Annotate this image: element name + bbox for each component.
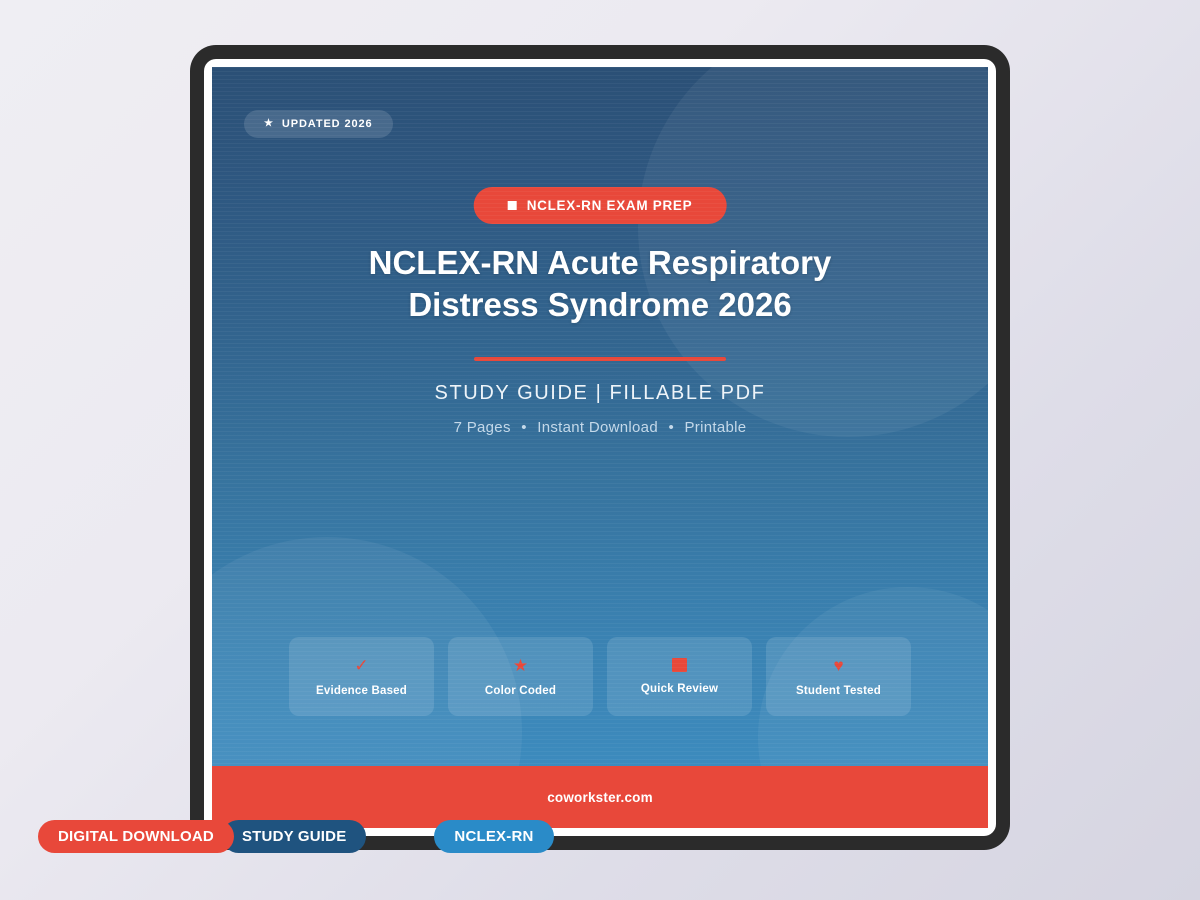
device-frame: ★ UPDATED 2026 NCLEX-RN EXAM PREP NCLEX-… (190, 45, 1010, 850)
feature-label: Evidence Based (316, 685, 407, 697)
updated-badge-label: UPDATED 2026 (282, 118, 373, 130)
ribbon-study-guide: STUDY GUIDE (222, 820, 366, 853)
poster-content: ★ UPDATED 2026 NCLEX-RN EXAM PREP NCLEX-… (212, 67, 988, 828)
feature-card-student-tested: ♥ Student Tested (766, 637, 911, 716)
ribbon-digital-download: DIGITAL DOWNLOAD (38, 820, 234, 853)
feature-card-color-coded: ★ Color Coded (448, 637, 593, 716)
device-screen: ★ UPDATED 2026 NCLEX-RN EXAM PREP NCLEX-… (204, 59, 996, 836)
star-icon: ★ (264, 119, 274, 129)
checkmark-icon: ✓ (354, 657, 368, 674)
title-divider (474, 357, 726, 361)
meta-printable: Printable (684, 419, 746, 436)
ribbon-badge-group: DIGITAL DOWNLOAD STUDY GUIDE NCLEX-RN (38, 820, 554, 853)
heart-icon: ♥ (833, 657, 843, 674)
feature-card-evidence-based: ✓ Evidence Based (289, 637, 434, 716)
feature-card-quick-review: Quick Review (607, 637, 752, 716)
square-icon (508, 201, 517, 210)
star-icon: ★ (513, 657, 528, 674)
poster-canvas: ★ UPDATED 2026 NCLEX-RN EXAM PREP NCLEX-… (212, 67, 988, 828)
feature-label: Quick Review (641, 683, 718, 695)
ribbon-nclex-rn: NCLEX-RN (434, 820, 553, 853)
updated-badge: ★ UPDATED 2026 (244, 110, 393, 138)
category-badge: NCLEX-RN EXAM PREP (474, 187, 727, 224)
format-line: STUDY GUIDE | FILLABLE PDF (212, 382, 988, 405)
meta-pages: 7 Pages (454, 419, 511, 436)
meta-separator-2: • (662, 419, 680, 436)
feature-card-row: ✓ Evidence Based ★ Color Coded Quick Rev… (289, 637, 911, 716)
meta-separator-1: • (515, 419, 533, 436)
page-title: NCLEX-RN Acute Respiratory Distress Synd… (212, 242, 988, 326)
feature-label: Color Coded (485, 685, 556, 697)
square-icon (672, 658, 687, 672)
meta-delivery: Instant Download (537, 419, 658, 436)
meta-line: 7 Pages • Instant Download • Printable (212, 419, 988, 436)
feature-label: Student Tested (796, 685, 881, 697)
category-badge-label: NCLEX-RN EXAM PREP (527, 198, 693, 213)
title-line-2: Distress Syndrome 2026 (408, 286, 791, 323)
poster-footer-bar: coworkster.com (212, 766, 988, 828)
product-cover-mockup: ★ UPDATED 2026 NCLEX-RN EXAM PREP NCLEX-… (0, 0, 1200, 900)
footer-site-label: coworkster.com (547, 790, 653, 805)
title-line-1: NCLEX-RN Acute Respiratory (369, 244, 832, 281)
